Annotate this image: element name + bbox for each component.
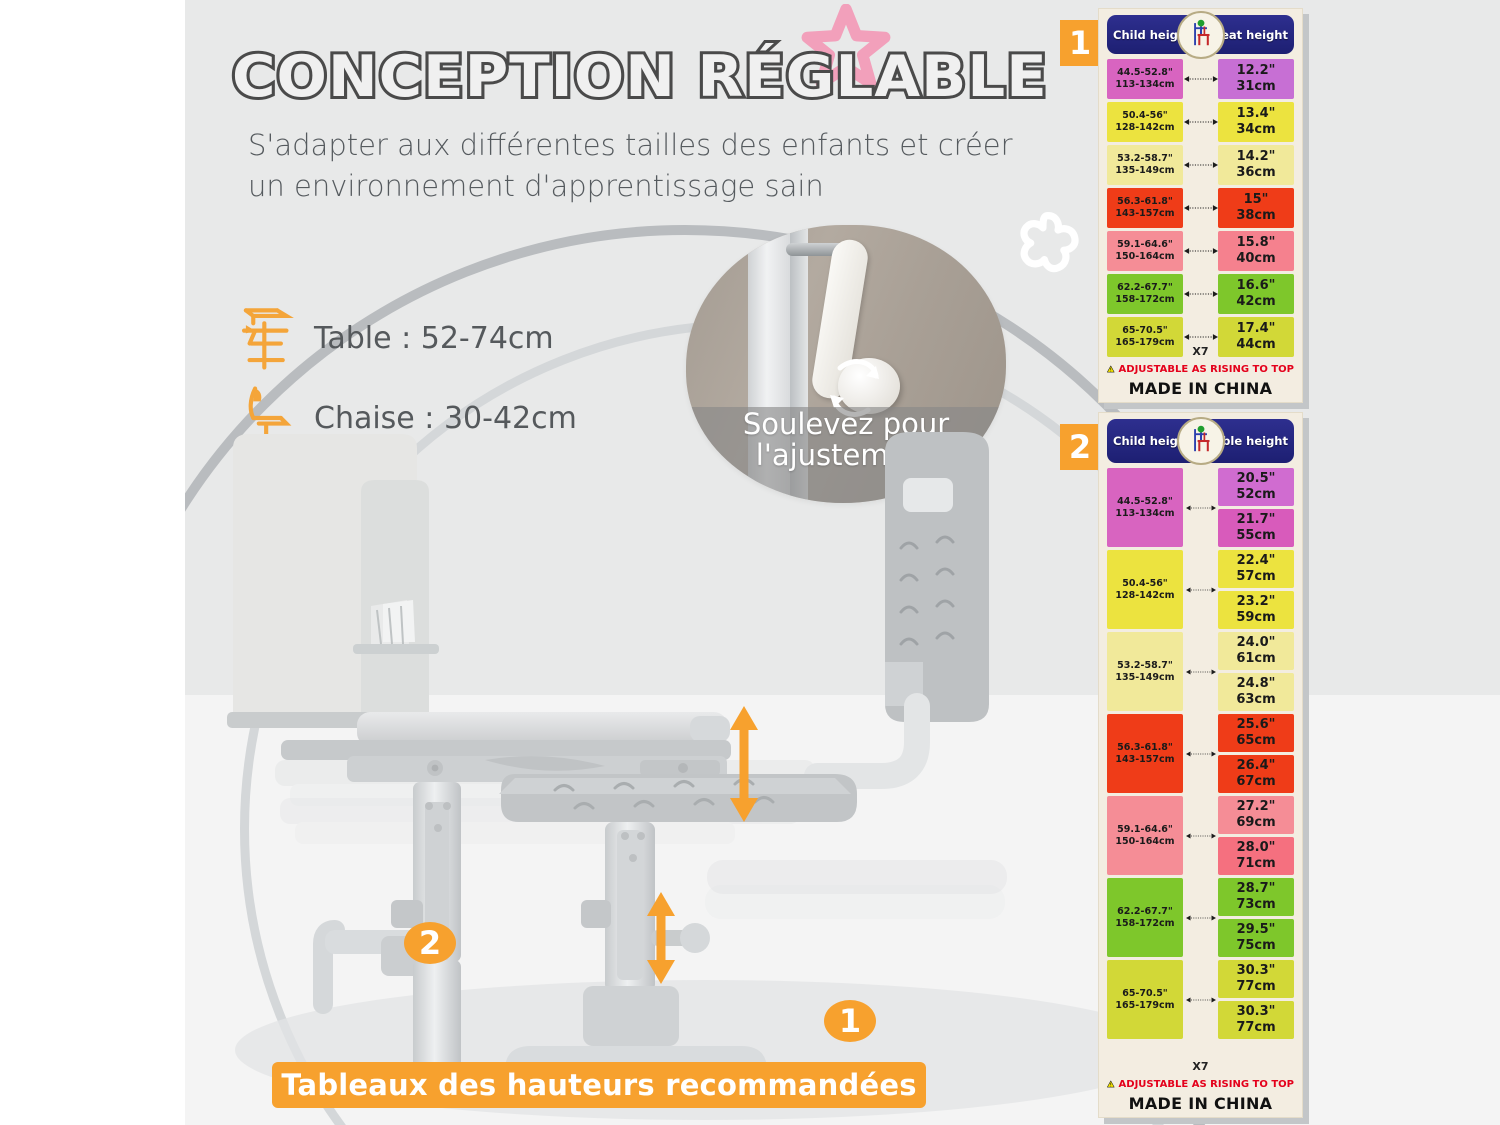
target-height-inches: 28.0" xyxy=(1237,840,1276,856)
range-link-arrow-icon xyxy=(1186,912,1216,924)
range-link xyxy=(1183,878,1218,957)
table-row: 65-70.5"165-179cm xyxy=(1107,960,1183,1039)
child-height-column: 44.5-52.8"113-134cm50.4-56"128-142cm53.2… xyxy=(1107,468,1183,1075)
table-row: 24.8"63cm xyxy=(1218,673,1294,711)
seat-height-chart: Child heightSeat height44.5-52.8"113-134… xyxy=(1098,8,1303,403)
child-height-inches: 59.1-64.6" xyxy=(1117,824,1173,836)
range-link xyxy=(1183,796,1218,875)
chart-body: 44.5-52.8"113-134cm50.4-56"128-142cm53.2… xyxy=(1107,59,1294,360)
table-row: 28.7"73cm xyxy=(1218,878,1294,916)
spec-label-table: Table : 52-74cm xyxy=(314,321,554,356)
table-row: 53.2-58.7"135-149cm xyxy=(1107,632,1183,711)
target-height-cm: 52cm xyxy=(1236,487,1275,503)
child-height-cm: 158-172cm xyxy=(1115,918,1174,930)
chart-badge-1: 1 xyxy=(1060,20,1100,66)
target-height-inches: 16.6" xyxy=(1237,278,1276,294)
target-height-cm: 44cm xyxy=(1236,337,1275,353)
target-height-inches: 15.8" xyxy=(1237,235,1276,251)
range-link xyxy=(1183,714,1218,793)
range-link-arrow-icon xyxy=(1186,502,1216,514)
warning-text: ADJUSTABLE AS RISING TO TOP xyxy=(1119,1079,1294,1090)
child-height-inches: 50.4-56" xyxy=(1122,578,1168,590)
chart-footer: X7ADJUSTABLE AS RISING TO TOPMADE IN CHI… xyxy=(1107,1075,1294,1113)
table-row: 22.4"57cm xyxy=(1218,550,1294,588)
target-height-cm: 73cm xyxy=(1236,897,1275,913)
warning-triangle-icon xyxy=(1107,1075,1115,1093)
target-height-cm: 67cm xyxy=(1236,774,1275,790)
table-row: 15.8"40cm xyxy=(1218,231,1294,271)
table-row: 53.2-58.7"135-149cm xyxy=(1107,145,1183,185)
range-link-arrow-icon xyxy=(1184,202,1218,214)
infographic-page: CONCEPTION RÉGLABLE S'adapter aux différ… xyxy=(0,0,1500,1125)
target-height-cm: 75cm xyxy=(1236,938,1275,954)
table-row: 12.2"31cm xyxy=(1218,59,1294,99)
child-height-cm: 135-149cm xyxy=(1115,672,1174,684)
range-link xyxy=(1183,550,1218,629)
target-height-cm: 42cm xyxy=(1236,294,1275,310)
target-height-cm: 31cm xyxy=(1236,79,1275,95)
table-row: 59.1-64.6"150-164cm xyxy=(1107,796,1183,875)
range-link xyxy=(1183,317,1218,357)
table-row: 56.3-61.8"143-157cm xyxy=(1107,714,1183,793)
target-height-inches: 20.5" xyxy=(1237,471,1276,487)
table-row: 21.7"55cm xyxy=(1218,509,1294,547)
table-row: 62.2-67.7"158-172cm xyxy=(1107,878,1183,957)
child-height-cm: 165-179cm xyxy=(1115,1000,1174,1012)
table-row: 17.4"44cm xyxy=(1218,317,1294,357)
range-link-arrow-icon xyxy=(1184,245,1218,257)
child-on-chair-icon xyxy=(1184,424,1218,458)
bottom-banner: Tableaux des hauteurs recommandées xyxy=(272,1062,926,1108)
range-link-arrow-icon xyxy=(1186,666,1216,678)
child-height-cm: 113-134cm xyxy=(1115,508,1174,520)
target-height-inches: 24.8" xyxy=(1237,676,1276,692)
target-height-cm: 77cm xyxy=(1236,1020,1275,1036)
page-subtitle: S'adapter aux différentes tailles des en… xyxy=(248,125,1028,207)
target-height-cm: 71cm xyxy=(1236,856,1275,872)
child-height-cm: 135-149cm xyxy=(1115,165,1174,177)
child-height-inches: 65-70.5" xyxy=(1122,325,1168,337)
child-height-inches: 44.5-52.8" xyxy=(1117,67,1173,79)
flower-icon xyxy=(1012,207,1084,279)
child-height-inches: 56.3-61.8" xyxy=(1117,742,1173,754)
range-link-arrow-icon xyxy=(1186,584,1216,596)
child-on-chair-icon xyxy=(1184,18,1218,52)
target-height-cm: 61cm xyxy=(1236,651,1275,667)
target-height-inches: 30.3" xyxy=(1237,963,1276,979)
warning-triangle-icon xyxy=(1107,360,1115,378)
target-height-inches: 21.7" xyxy=(1237,512,1276,528)
table-row: 30.3"77cm xyxy=(1218,960,1294,998)
child-height-cm: 113-134cm xyxy=(1115,79,1174,91)
origin-text: MADE IN CHINA xyxy=(1107,1094,1294,1113)
table-row: 56.3-61.8"143-157cm xyxy=(1107,188,1183,228)
table-row: 28.0"71cm xyxy=(1218,837,1294,875)
target-height-cm: 69cm xyxy=(1236,815,1275,831)
target-height-inches: 26.4" xyxy=(1237,758,1276,774)
table-row: 25.6"65cm xyxy=(1218,714,1294,752)
table-row: 26.4"67cm xyxy=(1218,755,1294,793)
target-height-cm: 59cm xyxy=(1236,610,1275,626)
target-height-cm: 34cm xyxy=(1236,122,1275,138)
table-row: 20.5"52cm xyxy=(1218,468,1294,506)
range-link-arrow-icon xyxy=(1184,288,1218,300)
target-height-inches: 24.0" xyxy=(1237,635,1276,651)
table-row: 16.6"42cm xyxy=(1218,274,1294,314)
child-height-inches: 53.2-58.7" xyxy=(1117,660,1173,672)
target-height-inches: 28.7" xyxy=(1237,881,1276,897)
chart-header-icon xyxy=(1177,417,1225,465)
product-marker-1: 1 xyxy=(824,1000,876,1042)
chart-header: Child heightSeat height xyxy=(1107,15,1294,54)
range-link-arrow-icon xyxy=(1186,830,1216,842)
child-height-cm: 150-164cm xyxy=(1115,251,1174,263)
target-height-inches: 27.2" xyxy=(1237,799,1276,815)
chart-card: Child heightSeat height44.5-52.8"113-134… xyxy=(1098,8,1303,403)
child-height-cm: 150-164cm xyxy=(1115,836,1174,848)
child-height-inches: 62.2-67.7" xyxy=(1117,282,1173,294)
child-height-cm: 128-142cm xyxy=(1115,590,1174,602)
child-height-cm: 128-142cm xyxy=(1115,122,1174,134)
child-height-inches: 65-70.5" xyxy=(1122,988,1168,1000)
table-row: 27.2"69cm xyxy=(1218,796,1294,834)
table-row: 50.4-56"128-142cm xyxy=(1107,102,1183,142)
child-height-column: 44.5-52.8"113-134cm50.4-56"128-142cm53.2… xyxy=(1107,59,1183,360)
table-row: 13.4"34cm xyxy=(1218,102,1294,142)
chart-body: 44.5-52.8"113-134cm50.4-56"128-142cm53.2… xyxy=(1107,468,1294,1075)
product-illustration xyxy=(185,430,1185,1125)
range-link xyxy=(1183,188,1218,228)
range-link xyxy=(1183,960,1218,1039)
link-column xyxy=(1183,468,1218,1075)
child-height-inches: 59.1-64.6" xyxy=(1117,239,1173,251)
child-height-cm: 143-157cm xyxy=(1115,754,1174,766)
range-link xyxy=(1183,145,1218,185)
target-height-inches: 25.6" xyxy=(1237,717,1276,733)
range-link xyxy=(1183,274,1218,314)
range-link-arrow-icon xyxy=(1184,73,1218,85)
range-link xyxy=(1183,468,1218,547)
range-link xyxy=(1183,59,1218,99)
target-height-inches: 15" xyxy=(1244,192,1269,208)
table-row: 30.3"77cm xyxy=(1218,1001,1294,1039)
child-height-inches: 62.2-67.7" xyxy=(1117,906,1173,918)
target-height-inches: 17.4" xyxy=(1237,321,1276,337)
child-height-inches: 44.5-52.8" xyxy=(1117,496,1173,508)
table-row: 15"38cm xyxy=(1218,188,1294,228)
page-title: CONCEPTION RÉGLABLE xyxy=(232,44,1048,110)
range-link xyxy=(1183,231,1218,271)
table-row: 44.5-52.8"113-134cm xyxy=(1107,468,1183,547)
chart-card: Child heightTable height44.5-52.8"113-13… xyxy=(1098,412,1303,1118)
table-row: 65-70.5"165-179cm xyxy=(1107,317,1183,357)
page-margin-left xyxy=(0,0,185,1125)
chart-footer: X7ADJUSTABLE AS RISING TO TOPMADE IN CHI… xyxy=(1107,360,1294,398)
child-height-inches: 56.3-61.8" xyxy=(1117,196,1173,208)
target-height-inches: 22.4" xyxy=(1237,553,1276,569)
target-height-inches: 13.4" xyxy=(1237,106,1276,122)
table-row: 59.1-64.6"150-164cm xyxy=(1107,231,1183,271)
table-row: 50.4-56"128-142cm xyxy=(1107,550,1183,629)
product-marker-2: 2 xyxy=(404,922,456,964)
target-height-cm: 38cm xyxy=(1236,208,1275,224)
target-height-inches: 29.5" xyxy=(1237,922,1276,938)
warning-row: ADJUSTABLE AS RISING TO TOP xyxy=(1107,360,1294,378)
target-height-cm: 36cm xyxy=(1236,165,1275,181)
target-height-cm: 63cm xyxy=(1236,692,1275,708)
warning-text: ADJUSTABLE AS RISING TO TOP xyxy=(1119,364,1294,375)
child-height-inches: 50.4-56" xyxy=(1122,110,1168,122)
spec-row-table: Table : 52-74cm xyxy=(240,303,554,373)
table-height-chart: Child heightTable height44.5-52.8"113-13… xyxy=(1098,412,1303,1118)
warning-row: ADJUSTABLE AS RISING TO TOP xyxy=(1107,1075,1294,1093)
target-height-cm: 65cm xyxy=(1236,733,1275,749)
range-link-arrow-icon xyxy=(1184,331,1218,343)
target-height-cm: 40cm xyxy=(1236,251,1275,267)
child-height-cm: 143-157cm xyxy=(1115,208,1174,220)
link-column xyxy=(1183,59,1218,360)
child-height-cm: 158-172cm xyxy=(1115,294,1174,306)
target-height-inches: 12.2" xyxy=(1237,63,1276,79)
table-row: 24.0"61cm xyxy=(1218,632,1294,670)
target-height-inches: 23.2" xyxy=(1237,594,1276,610)
table-row: 29.5"75cm xyxy=(1218,919,1294,957)
chart-header: Child heightTable height xyxy=(1107,419,1294,463)
range-link-arrow-icon xyxy=(1186,748,1216,760)
table-row: 62.2-67.7"158-172cm xyxy=(1107,274,1183,314)
child-height-inches: 53.2-58.7" xyxy=(1117,153,1173,165)
target-height-column: 20.5"52cm21.7"55cm22.4"57cm23.2"59cm24.0… xyxy=(1218,468,1294,1075)
range-link xyxy=(1183,632,1218,711)
target-height-cm: 55cm xyxy=(1236,528,1275,544)
desk-icon xyxy=(240,303,296,373)
origin-text: MADE IN CHINA xyxy=(1107,379,1294,398)
range-link-arrow-icon xyxy=(1184,159,1218,171)
table-row: 14.2"36cm xyxy=(1218,145,1294,185)
target-height-column: 12.2"31cm13.4"34cm14.2"36cm15"38cm15.8"4… xyxy=(1218,59,1294,360)
child-height-cm: 165-179cm xyxy=(1115,337,1174,349)
range-link xyxy=(1183,102,1218,142)
bottom-banner-label: Tableaux des hauteurs recommandées xyxy=(281,1068,916,1102)
target-height-cm: 57cm xyxy=(1236,569,1275,585)
target-height-inches: 14.2" xyxy=(1237,149,1276,165)
range-link-arrow-icon xyxy=(1184,116,1218,128)
target-height-cm: 77cm xyxy=(1236,979,1275,995)
table-row: 23.2"59cm xyxy=(1218,591,1294,629)
chart-header-icon xyxy=(1177,11,1225,59)
target-height-inches: 30.3" xyxy=(1237,1004,1276,1020)
chart-badge-2: 2 xyxy=(1060,424,1100,470)
table-row: 44.5-52.8"113-134cm xyxy=(1107,59,1183,99)
range-link-arrow-icon xyxy=(1186,994,1216,1006)
